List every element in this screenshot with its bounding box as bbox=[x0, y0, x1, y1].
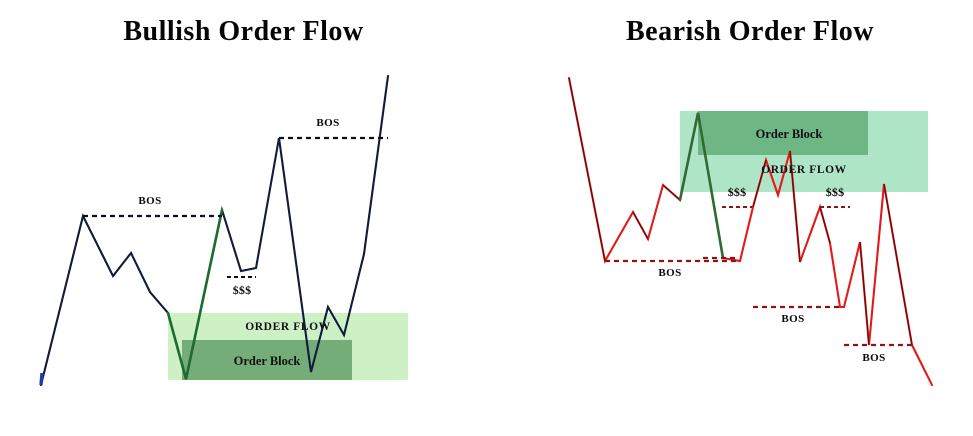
bullish-origin-accent bbox=[41, 373, 42, 385]
bearish-order-block-label: Order Block bbox=[756, 127, 823, 141]
bearish-money-label-4: $$$ bbox=[826, 185, 845, 199]
order-flow-diagram: Bullish Order Flow Bearish Order Flow OR… bbox=[0, 0, 973, 436]
bearish-chart-group: ORDER FLOWOrder BlockBOSBOSBOS$$$$$$ bbox=[569, 78, 932, 385]
bearish-price-leg-shadow-8 bbox=[884, 184, 912, 345]
bullish-chart-group: ORDER FLOWOrder BlockBOSBOS$$$ bbox=[41, 76, 408, 385]
price-chart-canvas: ORDER FLOWOrder BlockBOSBOS$$$ORDER FLOW… bbox=[0, 0, 973, 436]
bullish-order-block-label: Order Block bbox=[234, 354, 301, 368]
bullish-money-label-2: $$$ bbox=[233, 283, 252, 297]
bearish-bos-label-2: BOS bbox=[862, 352, 885, 364]
bearish-bos-label-1: BOS bbox=[781, 313, 804, 325]
bullish-bos-label-1: BOS bbox=[316, 117, 339, 129]
bearish-money-label-3: $$$ bbox=[728, 185, 747, 199]
bearish-price-leg-shadow-6 bbox=[820, 207, 830, 243]
bearish-price-leg-shadow-1 bbox=[633, 212, 648, 239]
bullish-order-flow-label: ORDER FLOW bbox=[245, 321, 331, 333]
bearish-price-leg-shadow-7 bbox=[860, 242, 869, 345]
bearish-price-leg-shadow-2 bbox=[663, 185, 680, 200]
bullish-bos-label-0: BOS bbox=[138, 195, 161, 207]
bearish-order-flow-label: ORDER FLOW bbox=[761, 164, 847, 176]
bearish-price-leg-shadow-0 bbox=[569, 78, 605, 261]
bearish-bos-label-0: BOS bbox=[658, 267, 681, 279]
